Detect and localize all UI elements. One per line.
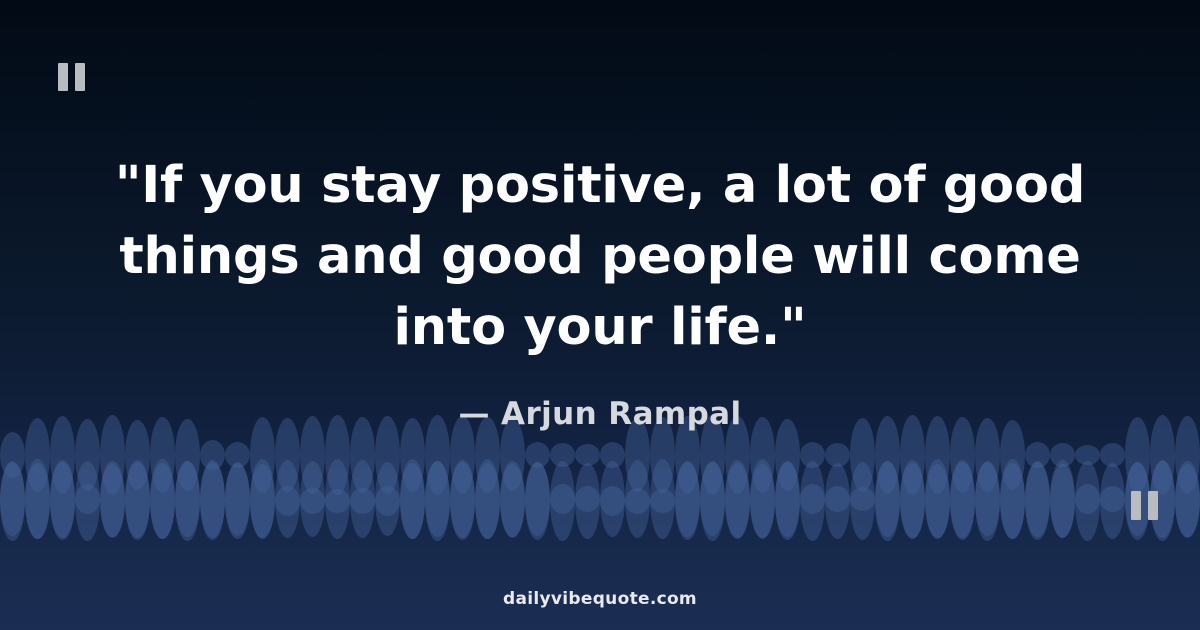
site-url: dailyvibequote.com — [0, 589, 1200, 609]
quote-text: "If you stay positive, a lot of good thi… — [70, 150, 1130, 363]
quote-author: — Arjun Rampal — [0, 396, 1200, 432]
quote-card: "If you stay positive, a lot of good thi… — [0, 0, 1200, 630]
card-content: "If you stay positive, a lot of good thi… — [0, 0, 1200, 630]
